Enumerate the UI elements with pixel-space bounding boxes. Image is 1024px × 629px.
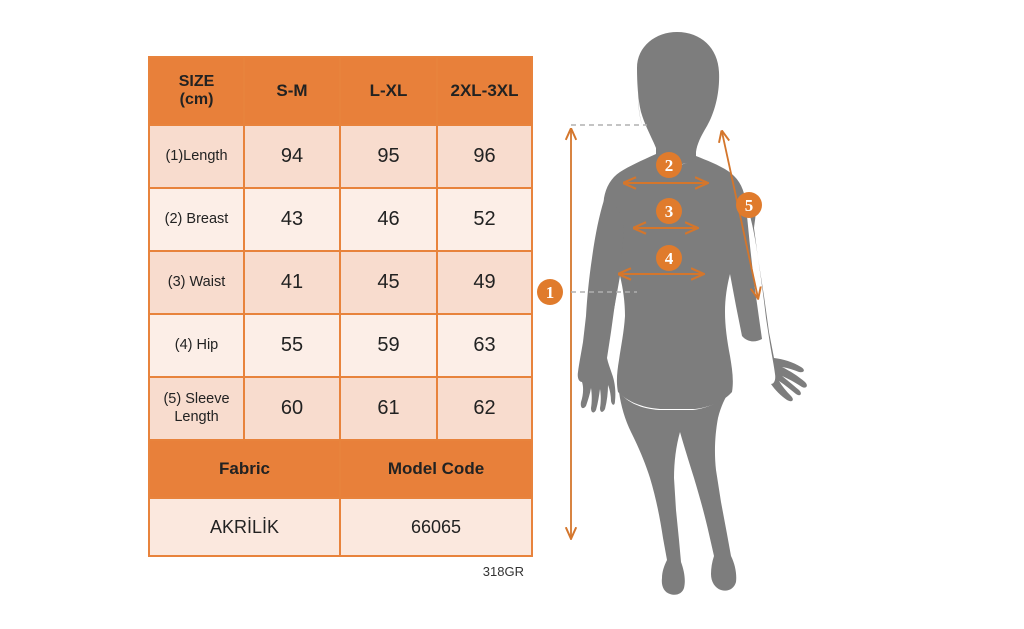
table-row: (5) Sleeve Length 60 61 62 [149, 377, 532, 440]
header-col-l-xl: L-XL [340, 57, 437, 125]
cell-hip-2xl-3xl: 63 [437, 314, 532, 377]
cell-hip-s-m: 55 [244, 314, 340, 377]
header-size-cm: SIZE (cm) [149, 57, 244, 125]
cell-length-2xl-3xl: 96 [437, 125, 532, 188]
table-header-row: SIZE (cm) S-M L-XL 2XL-3XL [149, 57, 532, 125]
measurement-figure-panel: 1 2 3 4 5 [525, 20, 825, 610]
badge-2-label: 2 [665, 156, 674, 175]
cell-breast-2xl-3xl: 52 [437, 188, 532, 251]
row-label-length: (1)Length [149, 125, 244, 188]
cell-breast-l-xl: 46 [340, 188, 437, 251]
cell-sleeve-2xl-3xl: 62 [437, 377, 532, 440]
cell-length-s-m: 94 [244, 125, 340, 188]
size-chart-header: SIZE (cm) S-M L-XL 2XL-3XL [149, 57, 532, 125]
header-size-line2: (cm) [150, 91, 243, 109]
row-label-hip: (4) Hip [149, 314, 244, 377]
weight-note: 318GR [440, 564, 524, 579]
size-chart-body: (1)Length 94 95 96 (2) Breast 43 46 52 (… [149, 125, 532, 556]
row-label-sleeve-length: (5) Sleeve Length [149, 377, 244, 440]
header-col-s-m: S-M [244, 57, 340, 125]
cell-waist-s-m: 41 [244, 251, 340, 314]
badge-1-label: 1 [546, 283, 555, 302]
table-footer-header-row: Fabric Model Code [149, 440, 532, 498]
row-label-breast: (2) Breast [149, 188, 244, 251]
cell-sleeve-l-xl: 61 [340, 377, 437, 440]
footer-value-fabric: AKRİLİK [149, 498, 340, 556]
badge-5-sleeve-length: 5 [736, 192, 762, 218]
cell-breast-s-m: 43 [244, 188, 340, 251]
header-size-line1: SIZE [150, 73, 243, 91]
table-footer-value-row: AKRİLİK 66065 [149, 498, 532, 556]
badge-2-breast: 2 [656, 152, 682, 178]
badge-4-label: 4 [665, 249, 674, 268]
footer-value-model-code: 66065 [340, 498, 532, 556]
cell-waist-2xl-3xl: 49 [437, 251, 532, 314]
table-row: (4) Hip 55 59 63 [149, 314, 532, 377]
footer-label-model-code: Model Code [340, 440, 532, 498]
size-chart-table: SIZE (cm) S-M L-XL 2XL-3XL (1)Length 94 … [148, 56, 533, 557]
badge-4-hip: 4 [656, 245, 682, 271]
badge-3-label: 3 [665, 202, 674, 221]
header-col-2xl-3xl: 2XL-3XL [437, 57, 532, 125]
cell-hip-l-xl: 59 [340, 314, 437, 377]
table-row: (2) Breast 43 46 52 [149, 188, 532, 251]
badge-5-label: 5 [745, 196, 754, 215]
cell-waist-l-xl: 45 [340, 251, 437, 314]
cell-sleeve-s-m: 60 [244, 377, 340, 440]
table-row: (1)Length 94 95 96 [149, 125, 532, 188]
female-silhouette-icon [578, 32, 807, 595]
badge-1-length: 1 [537, 279, 563, 305]
footer-label-fabric: Fabric [149, 440, 340, 498]
row-label-waist: (3) Waist [149, 251, 244, 314]
table-row: (3) Waist 41 45 49 [149, 251, 532, 314]
badge-3-waist: 3 [656, 198, 682, 224]
cell-length-l-xl: 95 [340, 125, 437, 188]
